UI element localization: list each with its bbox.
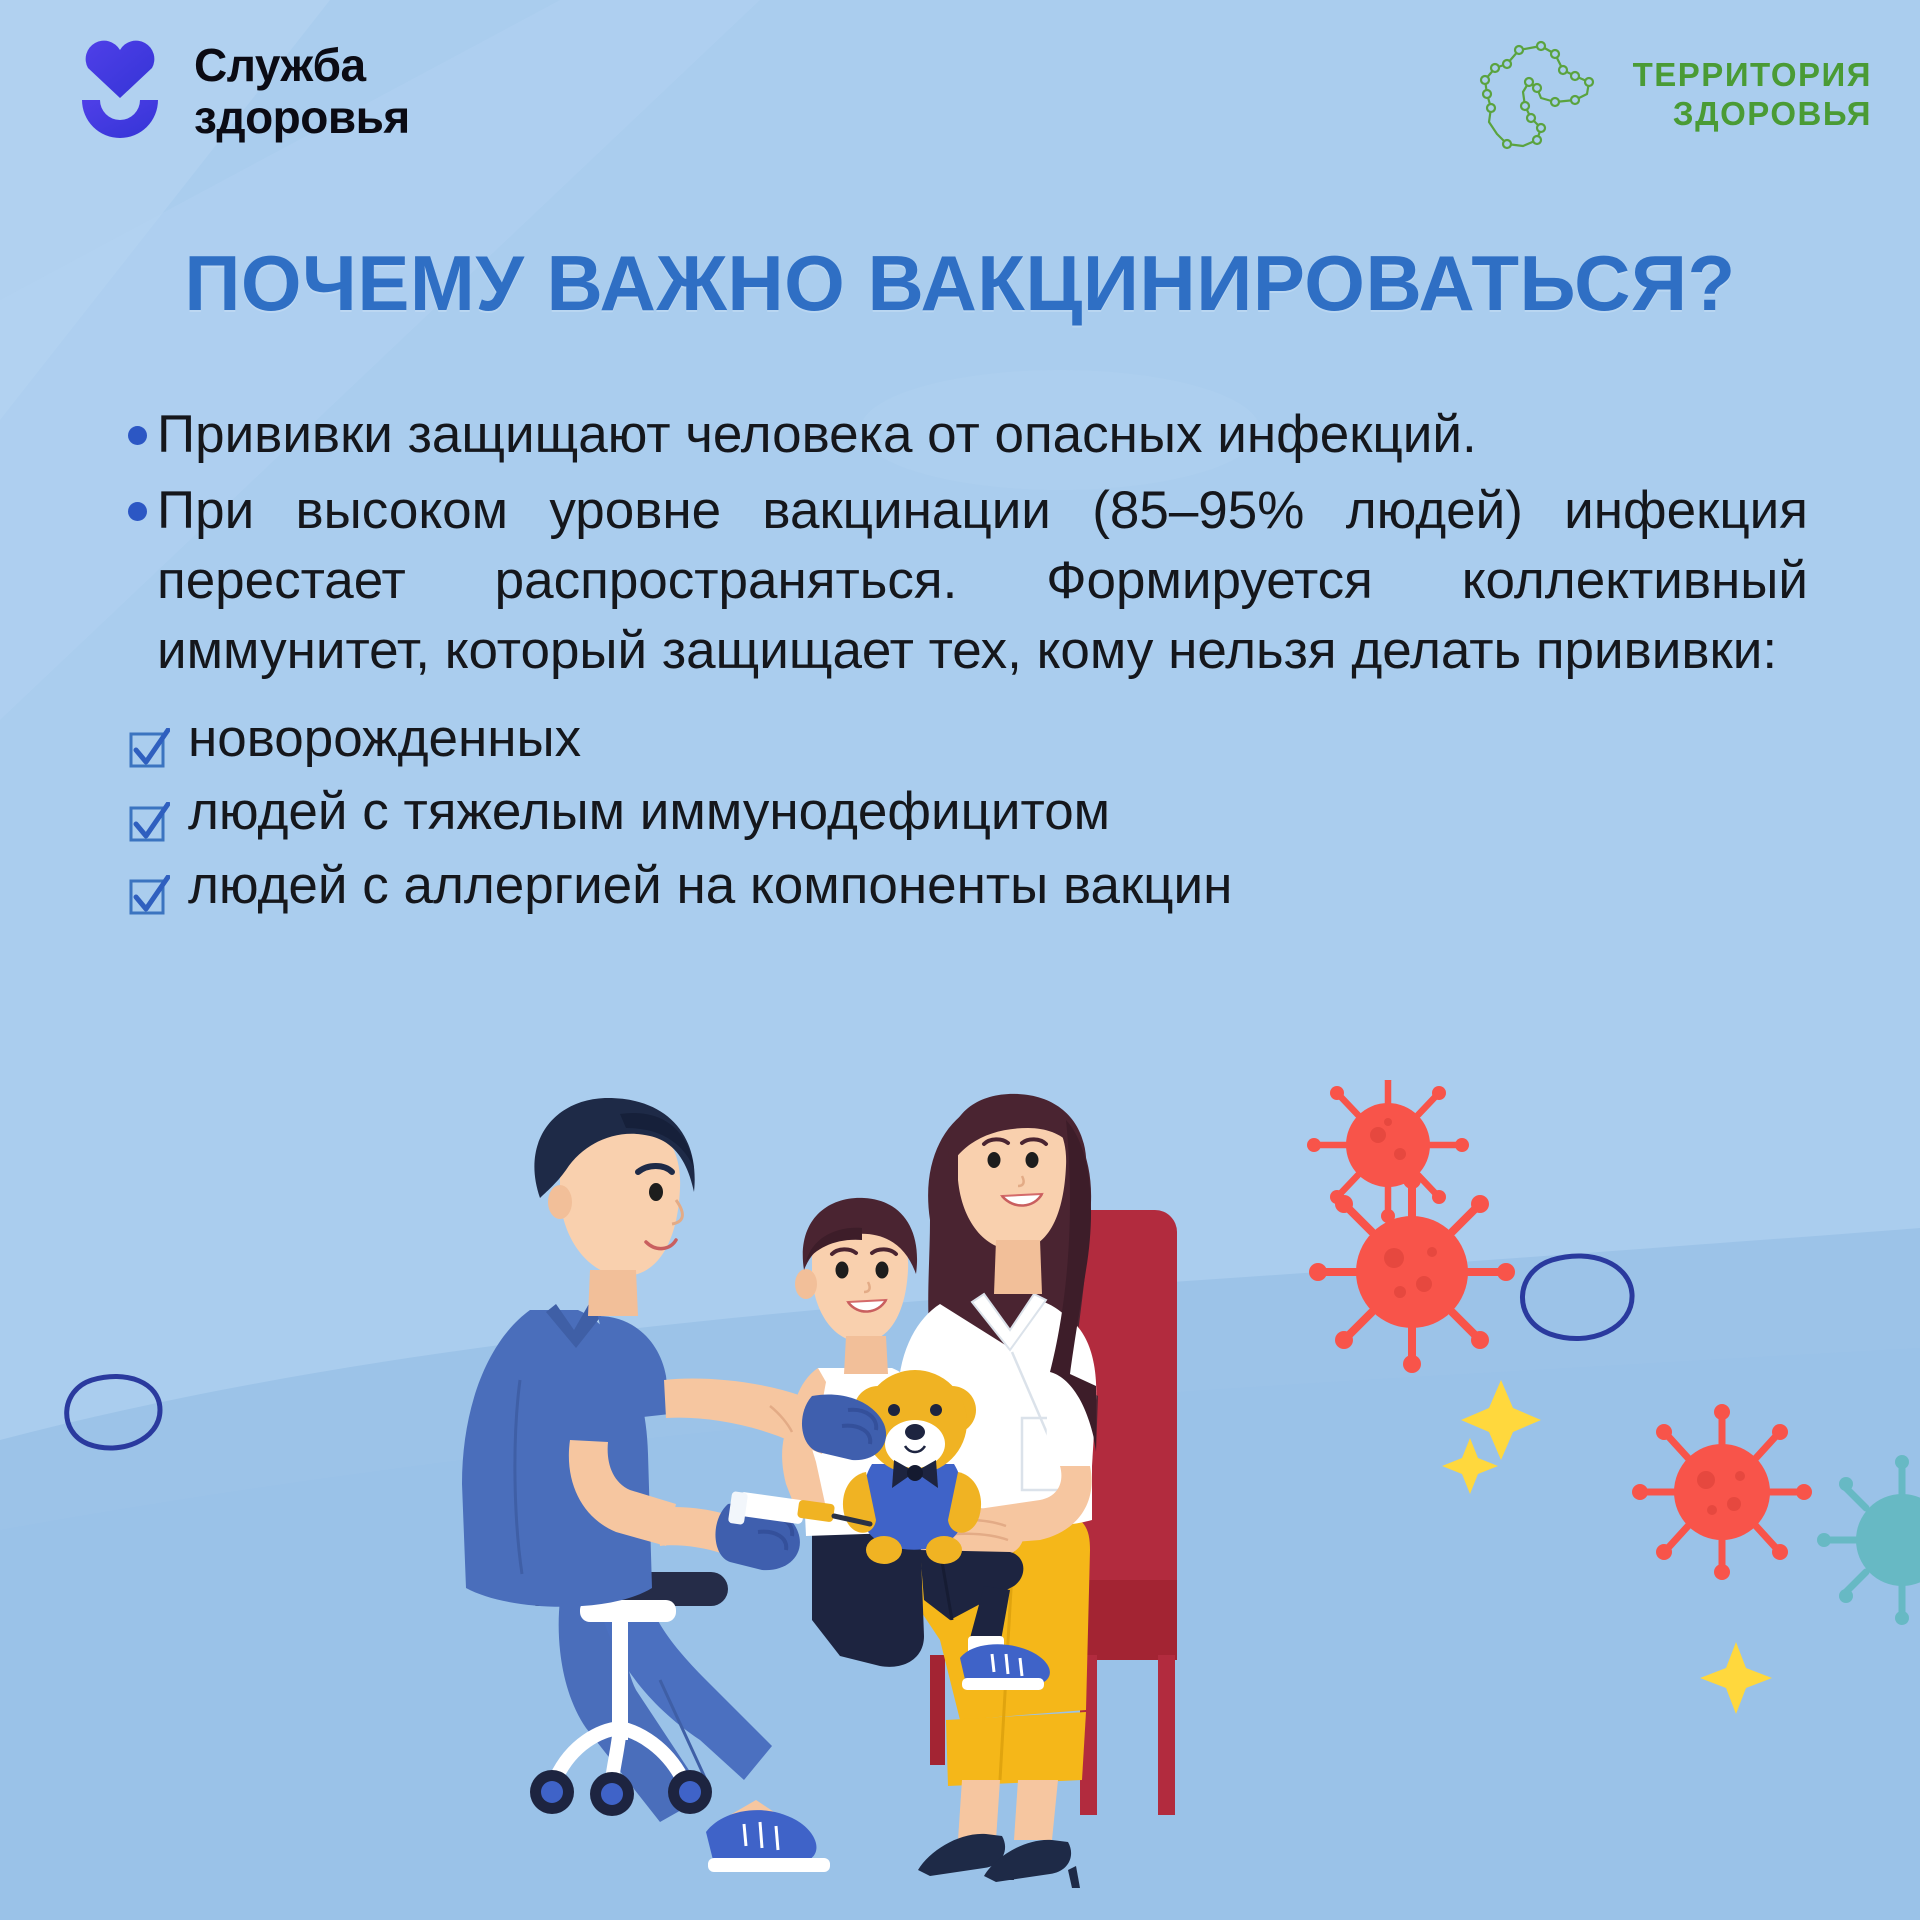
checklist-label: людей с аллергией на компоненты вакцин [188, 855, 1232, 918]
territoriya-zdorovya-logo[interactable]: ТЕРРИТОРИЯ ЗДОРОВЬЯ [1479, 36, 1872, 154]
checklist-item: новорожденных [128, 708, 1808, 771]
logo-line-2: здоровья [194, 91, 410, 143]
vaccination-illustration [0, 1080, 1920, 1920]
body-content: Прививки защищают человека от опасных ин… [128, 400, 1808, 928]
territory-map-nodes-icon [1479, 36, 1619, 154]
bullet-text-2: При высоком уровне вакцинации (85–95% лю… [157, 476, 1808, 686]
checklist-item: людей с тяжелым иммунодефицитом [128, 781, 1808, 844]
territory-line-1: ТЕРРИТОРИЯ [1633, 56, 1872, 95]
sparkle-yellow-icon [1442, 1438, 1498, 1494]
virus-particle-teal-icon [1817, 1455, 1920, 1625]
virus-particle-red-icon [1307, 1080, 1469, 1223]
territory-line-2: ЗДОРОВЬЯ [1633, 95, 1872, 134]
heart-smile-logo-icon [72, 36, 168, 146]
poster-canvas: Служба здоровья [0, 0, 1920, 1920]
logo-wordmark: Служба здоровья [194, 39, 410, 144]
blob-outline-navy-icon [67, 1377, 160, 1448]
checklist-item: людей с аллергией на компоненты вакцин [128, 855, 1808, 918]
territory-wordmark: ТЕРРИТОРИЯ ЗДОРОВЬЯ [1633, 56, 1872, 134]
bullet-dot-icon [128, 502, 147, 521]
header: Служба здоровья [0, 0, 1920, 190]
checkbox-checked-icon [128, 718, 170, 760]
logo-line-1: Служба [194, 39, 410, 91]
bullet-text-1: Прививки защищают человека от опасных ин… [157, 400, 1808, 470]
virus-particle-red-icon [1632, 1404, 1812, 1580]
checklist: новорожденных людей с тяжелым иммунодефи… [128, 708, 1808, 918]
bullet-dot-icon [128, 426, 147, 445]
page-title: ПОЧЕМУ ВАЖНО ВАКЦИНИРОВАТЬСЯ? [0, 238, 1920, 329]
sparkle-yellow-icon [1700, 1642, 1772, 1714]
blob-outline-navy-icon [1522, 1256, 1632, 1339]
checklist-label: новорожденных [188, 708, 581, 771]
checkbox-checked-icon [128, 865, 170, 907]
checklist-label: людей с тяжелым иммунодефицитом [188, 781, 1110, 844]
checkbox-checked-icon [128, 792, 170, 834]
bullet-item-1: Прививки защищают человека от опасных ин… [128, 400, 1808, 470]
sluzhba-zdorovya-logo[interactable]: Служба здоровья [72, 36, 410, 146]
virus-particle-red-icon [1309, 1171, 1515, 1373]
bullet-item-2: При высоком уровне вакцинации (85–95% лю… [128, 476, 1808, 686]
